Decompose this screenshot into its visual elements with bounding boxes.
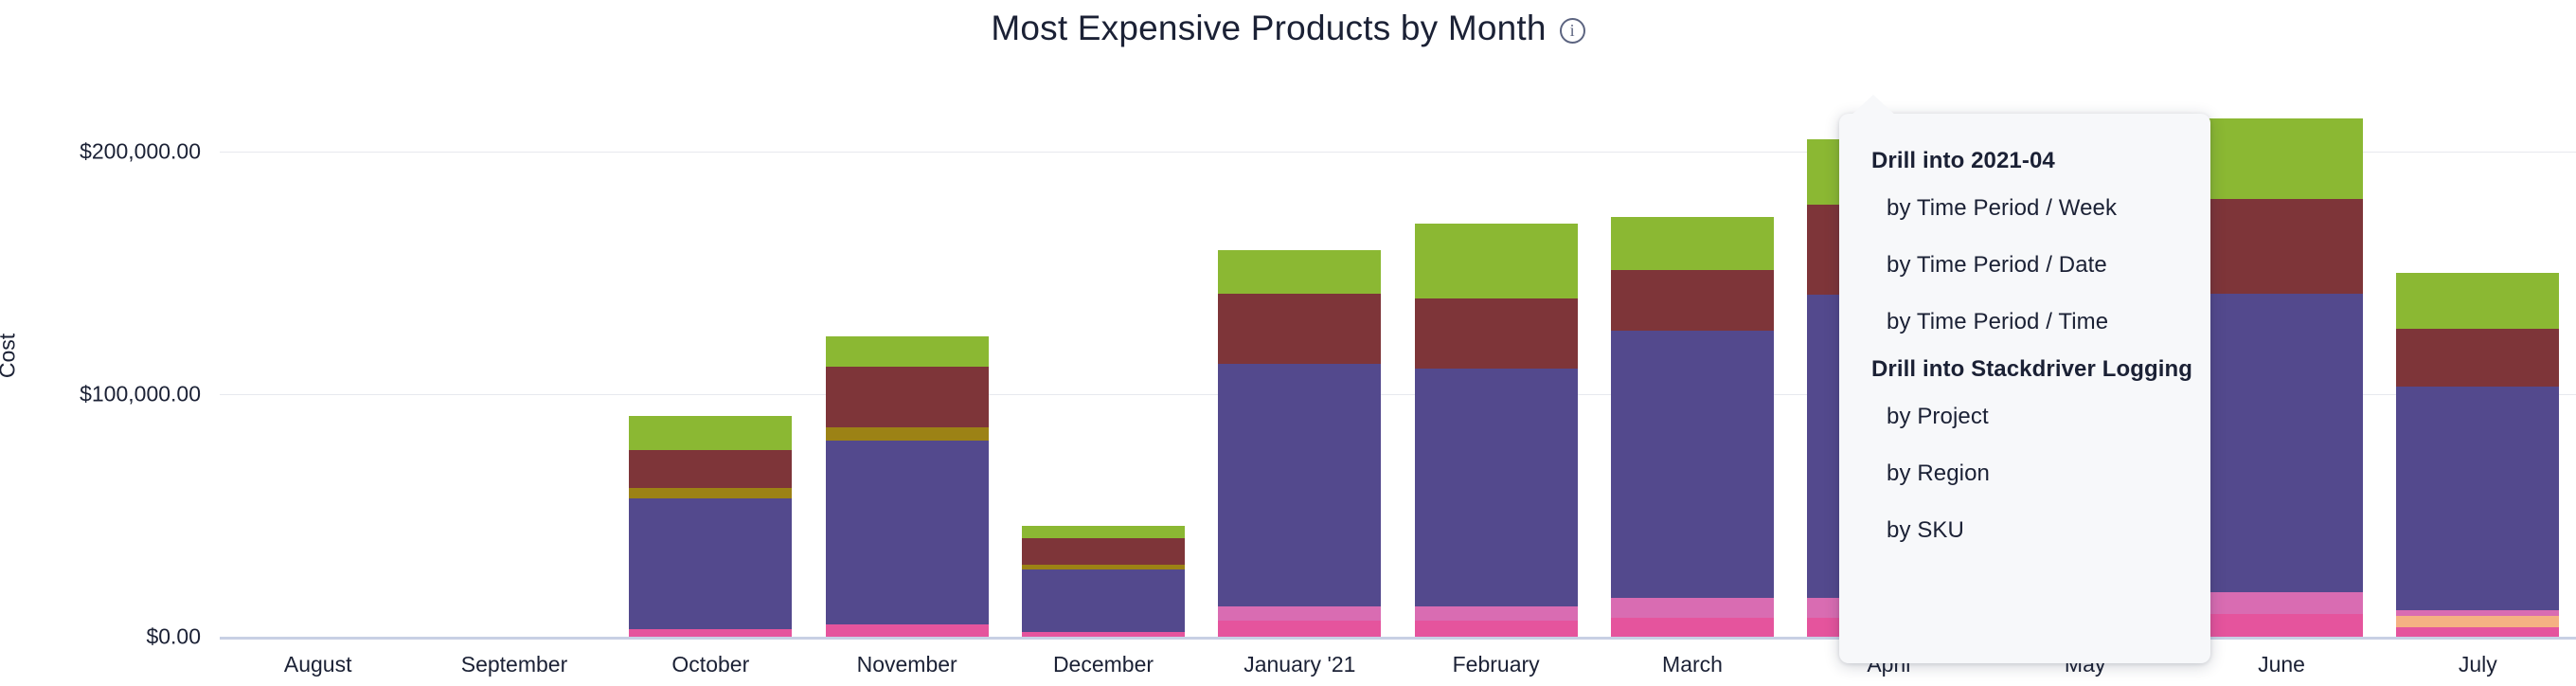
drill-down-menu[interactable]: Drill into 2021-04by Time Period / Weekb… bbox=[1839, 114, 2210, 663]
x-tick-label-november: November bbox=[857, 652, 957, 677]
x-tick-label-october: October bbox=[671, 652, 749, 677]
drill-menu-pointer-icon bbox=[1849, 95, 1898, 117]
chart-container: Most Expensive Products by Month i Cost … bbox=[0, 0, 2576, 686]
x-tick-label-january-21: January '21 bbox=[1243, 652, 1355, 677]
x-tick-label-december: December bbox=[1053, 652, 1154, 677]
drill-menu-item-by-sku[interactable]: by SKU bbox=[1839, 502, 2210, 559]
x-tick-label-september: September bbox=[461, 652, 568, 677]
x-tick-label-july: July bbox=[2459, 652, 2497, 677]
x-tick-label-february: February bbox=[1453, 652, 1540, 677]
x-tick-label-march: March bbox=[1662, 652, 1723, 677]
x-tick-label-august: August bbox=[284, 652, 352, 677]
drill-menu-item-by-project[interactable]: by Project bbox=[1839, 388, 2210, 445]
drill-menu-item-by-time-period-week[interactable]: by Time Period / Week bbox=[1839, 180, 2210, 237]
drill-menu-item-by-time-period-date[interactable]: by Time Period / Date bbox=[1839, 237, 2210, 294]
drill-menu-section-header-0: Drill into 2021-04 bbox=[1839, 142, 2210, 180]
drill-menu-section-header-1: Drill into Stackdriver Logging bbox=[1839, 351, 2210, 388]
x-tick-label-june: June bbox=[2258, 652, 2305, 677]
drill-menu-item-by-time-period-time[interactable]: by Time Period / Time bbox=[1839, 294, 2210, 351]
drill-menu-item-by-region[interactable]: by Region bbox=[1839, 445, 2210, 502]
